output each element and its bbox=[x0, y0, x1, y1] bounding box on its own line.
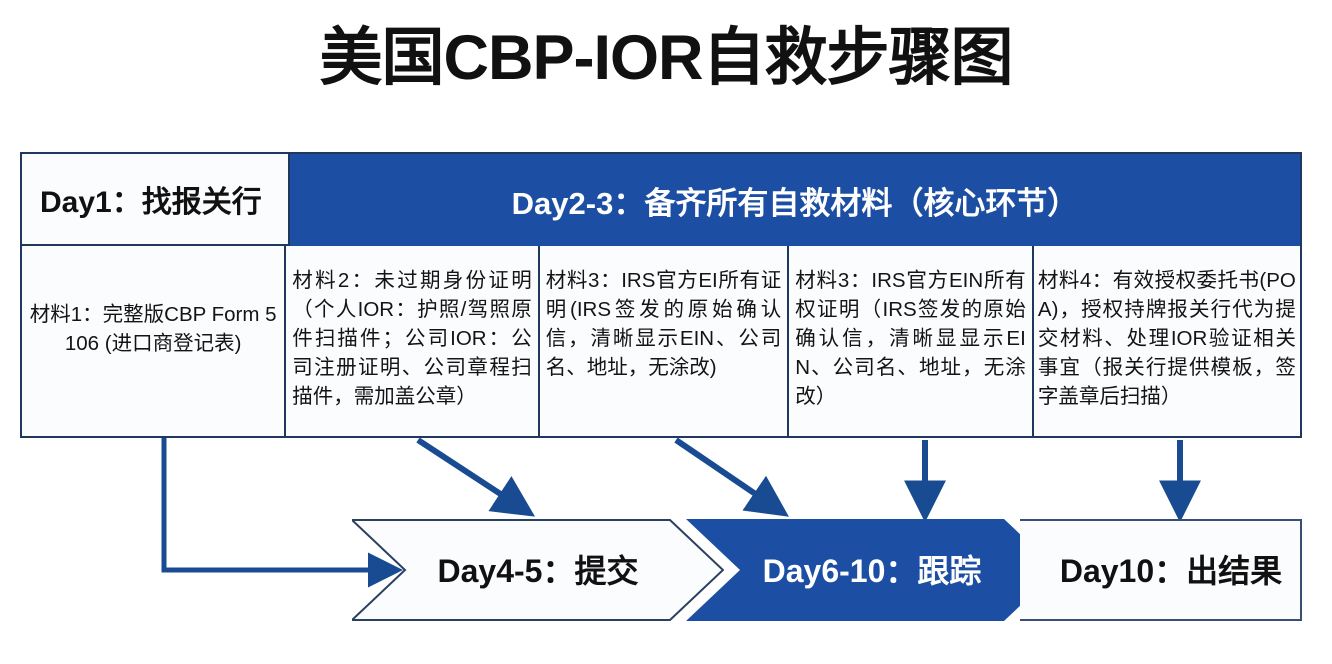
flow-step-result-label: Day10：出结果 bbox=[1038, 546, 1282, 592]
material-cell-1: 材料1：完整版CBP Form 5106 (进口商登记表) bbox=[22, 246, 286, 436]
material-text-1: 材料1：完整版CBP Form 5106 (进口商登记表) bbox=[28, 252, 278, 358]
flow-step-track[interactable]: Day6-10：跟踪 bbox=[686, 519, 1058, 621]
material-cell-2: 材料2：未过期身份证明（个人IOR：护照/驾照原件扫描件；公司IOR：公司注册证… bbox=[286, 246, 539, 436]
material-text-2: 材料2：未过期身份证明（个人IOR：护照/驾照原件扫描件；公司IOR：公司注册证… bbox=[292, 252, 531, 411]
material-cell-5: 材料4：有效授权委托书(POA)，授权持牌报关行代为提交材料、处理IOR验证相关… bbox=[1034, 246, 1300, 436]
diagram-canvas: 美国CBP-IOR自救步骤图 Day1：找报关行 Day2-3：备齐所有自救材料… bbox=[0, 0, 1332, 664]
table-header-row: Day1：找报关行 Day2-3：备齐所有自救材料（核心环节） bbox=[22, 154, 1300, 246]
material-cell-4: 材料3：IRS官方EIN所有权证明（IRS签发的原始确认信，清晰显显示EIN、公… bbox=[789, 246, 1034, 436]
flow-step-result[interactable]: Day10：出结果 bbox=[1020, 519, 1302, 621]
material-text-3: 材料3：IRS官方EI所有证明(IRS签发的原始确认信，清晰显示EIN、公司名、… bbox=[546, 252, 782, 382]
header-day1-cell: Day1：找报关行 bbox=[22, 154, 290, 246]
arrow-material2-to-submit bbox=[418, 440, 528, 512]
flow-step-track-label: Day6-10：跟踪 bbox=[763, 546, 982, 592]
timeline-flow: Day4-5：提交 Day6-10：跟踪 Day10：出结果 bbox=[352, 519, 1302, 621]
arrow-material3-to-track bbox=[676, 440, 782, 512]
materials-table: Day1：找报关行 Day2-3：备齐所有自救材料（核心环节） 材料1：完整版C… bbox=[20, 152, 1302, 438]
material-cell-3: 材料3：IRS官方EI所有证明(IRS签发的原始确认信，清晰显示EIN、公司名、… bbox=[540, 246, 790, 436]
header-day1-label: Day1：找报关行 bbox=[40, 177, 262, 221]
page-title: 美国CBP-IOR自救步骤图 bbox=[0, 22, 1332, 94]
header-day2-3-cell: Day2-3：备齐所有自救材料（核心环节） bbox=[290, 154, 1300, 246]
header-day2-3-label: Day2-3：备齐所有自救材料（核心环节） bbox=[512, 178, 1079, 223]
flow-step-submit-outline bbox=[352, 519, 724, 621]
table-body-row: 材料1：完整版CBP Form 5106 (进口商登记表) 材料2：未过期身份证… bbox=[22, 246, 1300, 436]
material-text-4: 材料3：IRS官方EIN所有权证明（IRS签发的原始确认信，清晰显显示EIN、公… bbox=[795, 252, 1026, 411]
material-text-5: 材料4：有效授权委托书(POA)，授权持牌报关行代为提交材料、处理IOR验证相关… bbox=[1038, 252, 1296, 411]
